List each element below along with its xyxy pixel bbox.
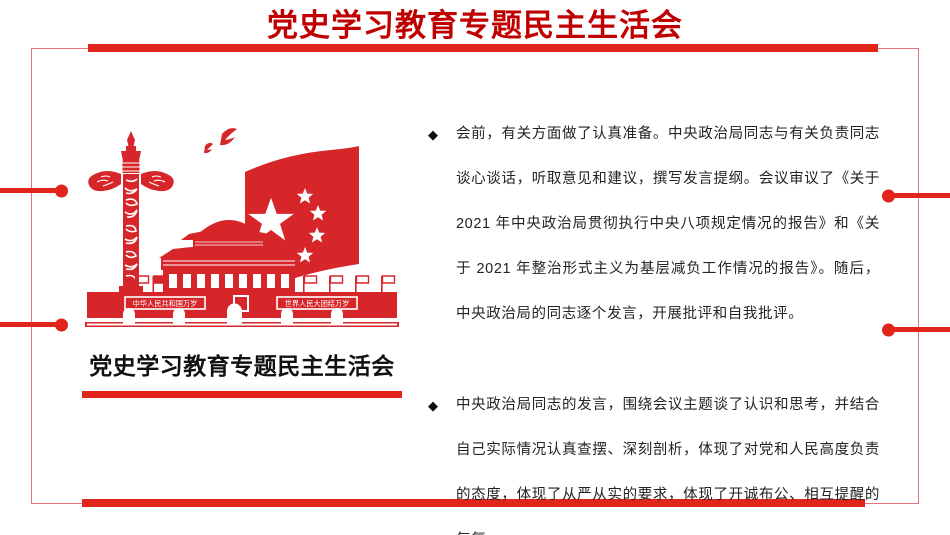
left-column: 中华人民共和国万岁 世界人民大团结万岁 党史学习教育专题民主生活会	[62, 118, 422, 398]
body-text-column: ◆ 会前，有关方面做了认真准备。中央政治局同志与有关负责同志谈心谈话，听取意见和…	[428, 112, 880, 535]
page-title: 党史学习教育专题民主生活会	[0, 6, 950, 46]
body-paragraph-1: ◆ 会前，有关方面做了认真准备。中央政治局同志与有关负责同志谈心谈话，听取意见和…	[428, 112, 880, 337]
huabiao-column-icon	[88, 131, 174, 293]
body-paragraph-1-text: 会前，有关方面做了认真准备。中央政治局同志与有关负责同志谈心谈话，听取意见和建议…	[456, 126, 880, 322]
body-paragraph-2-text: 中央政治局同志的发言，围绕会议主题谈了认识和思考，并结合自己实际情况认真查摆、深…	[456, 397, 880, 535]
accent-line-right-lower	[888, 327, 950, 332]
accent-dot-right-lower	[882, 323, 895, 336]
accent-line-right-upper	[888, 193, 950, 198]
rostrum-banner-left-text: 中华人民共和国万岁	[133, 299, 198, 308]
accent-line-left-upper	[0, 188, 62, 193]
rostrum-wall-icon: 中华人民共和国万岁 世界人民大团结万岁	[85, 292, 399, 327]
rostrum-banner-right-text: 世界人民大团结万岁	[285, 299, 350, 308]
accent-dot-right-upper	[882, 189, 895, 202]
tiananmen-flag-illustration: 中华人民共和国万岁 世界人民大团结万岁	[77, 118, 407, 333]
slide-root: 党史学习教育专题民主生活会	[0, 0, 950, 535]
subtitle: 党史学习教育专题民主生活会	[62, 351, 422, 381]
subtitle-underline	[82, 391, 402, 398]
diamond-bullet-icon: ◆	[428, 112, 439, 157]
doves-icon	[204, 128, 237, 153]
diamond-bullet-icon: ◆	[428, 383, 439, 428]
body-paragraph-2: ◆ 中央政治局同志的发言，围绕会议主题谈了认识和思考，并结合自己实际情况认真查摆…	[428, 383, 880, 535]
accent-line-left-lower	[0, 322, 62, 327]
